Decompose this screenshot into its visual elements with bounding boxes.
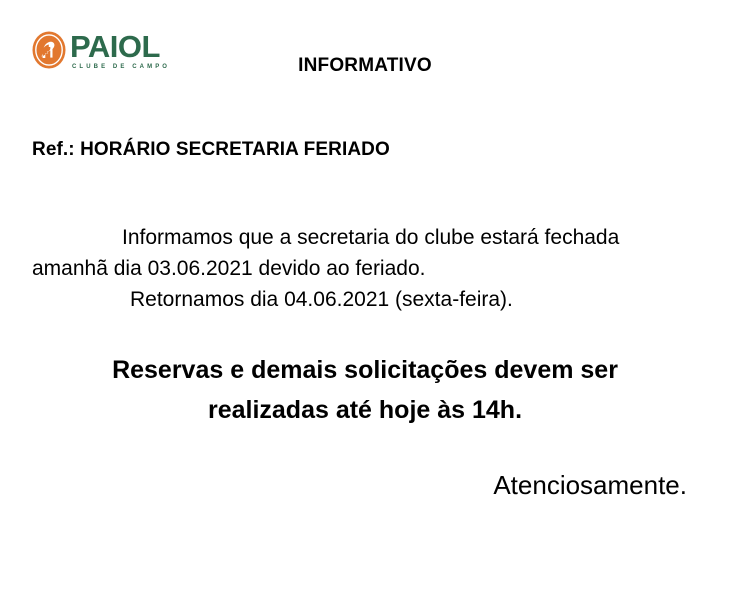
- body-line: Retornamos dia 04.06.2021 (sexta-feira).: [32, 284, 698, 315]
- informativo-document: PAIOL CLUBE DE CAMPO INFORMATIVO Ref.: H…: [0, 0, 730, 597]
- body-line: Informamos que a secretaria do clube est…: [32, 222, 698, 253]
- reference-line: Ref.: HORÁRIO SECRETARIA FERIADO: [32, 139, 390, 161]
- emphasis-line: Reservas e demais solicitações devem ser: [32, 350, 698, 390]
- emphasis-line: realizadas até hoje às 14h.: [32, 390, 698, 430]
- closing-salutation: Atenciosamente.: [32, 468, 687, 502]
- page-title: INFORMATIVO: [0, 55, 730, 77]
- body-paragraph: Informamos que a secretaria do clube est…: [32, 222, 698, 315]
- body-line: amanhã dia 03.06.2021 devido ao feriado.: [32, 253, 698, 284]
- document-header: PAIOL CLUBE DE CAMPO INFORMATIVO: [0, 0, 730, 110]
- emphasis-paragraph: Reservas e demais solicitações devem ser…: [32, 350, 698, 430]
